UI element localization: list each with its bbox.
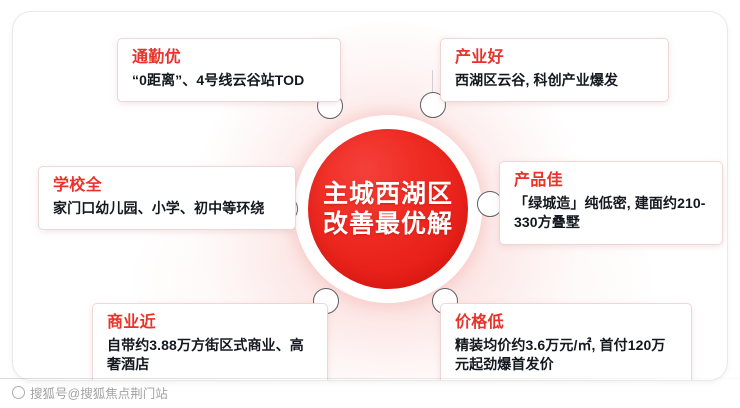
info-card-product: 产品佳 「绿城造」纯低密, 建面约210-330方叠墅 <box>500 162 722 244</box>
info-card-price-title: 价格低 <box>455 313 679 333</box>
center-hub-line-1: 主城西湖区 <box>323 179 453 210</box>
info-card-business-title: 商业近 <box>107 313 315 333</box>
watermark: 搜狐号@搜狐焦点荆门站 <box>12 383 168 402</box>
info-card-industry-title: 产业好 <box>455 48 656 68</box>
info-card-business: 商业近 自带约3.88万方街区式商业、高奢酒店 <box>93 304 327 380</box>
watermark-text: 搜狐号@搜狐焦点荆门站 <box>30 383 168 402</box>
info-card-industry-body: 西湖区云谷, 科创产业爆发 <box>455 71 656 90</box>
info-card-commute: 通勤优 “0距离”、4号线云谷站TOD <box>118 39 340 101</box>
watermark-divider <box>0 378 740 379</box>
connector-line-industry <box>432 70 433 93</box>
sohu-circle-icon <box>12 386 25 399</box>
info-card-school-body: 家门口幼儿园、小学、初中等环绕 <box>53 199 283 218</box>
infographic-card: 主城西湖区 改善最优解 通勤优 “0距离”、4号线云谷站TOD 产业好 西湖区云… <box>13 12 727 380</box>
info-card-commute-body: “0距离”、4号线云谷站TOD <box>132 71 328 90</box>
info-card-school-title: 学校全 <box>53 176 283 196</box>
info-card-business-body: 自带约3.88万方街区式商业、高奢酒店 <box>107 336 315 375</box>
center-hub: 主城西湖区 改善最优解 <box>308 129 468 289</box>
info-card-industry: 产业好 西湖区云谷, 科创产业爆发 <box>441 39 668 101</box>
info-card-price-body: 精装均价约3.6万元/㎡, 首付120万元起劲爆首发价 <box>455 336 679 375</box>
center-hub-line-2: 改善最优解 <box>323 209 453 240</box>
info-card-school: 学校全 家门口幼儿园、小学、初中等环绕 <box>39 167 295 229</box>
info-card-product-title: 产品佳 <box>514 171 710 191</box>
info-card-product-body: 「绿城造」纯低密, 建面约210-330方叠墅 <box>514 194 710 233</box>
info-card-commute-title: 通勤优 <box>132 48 328 68</box>
info-card-price: 价格低 精装均价约3.6万元/㎡, 首付120万元起劲爆首发价 <box>441 304 691 380</box>
infographic-stage: 主城西湖区 改善最优解 通勤优 “0距离”、4号线云谷站TOD 产业好 西湖区云… <box>0 0 740 408</box>
